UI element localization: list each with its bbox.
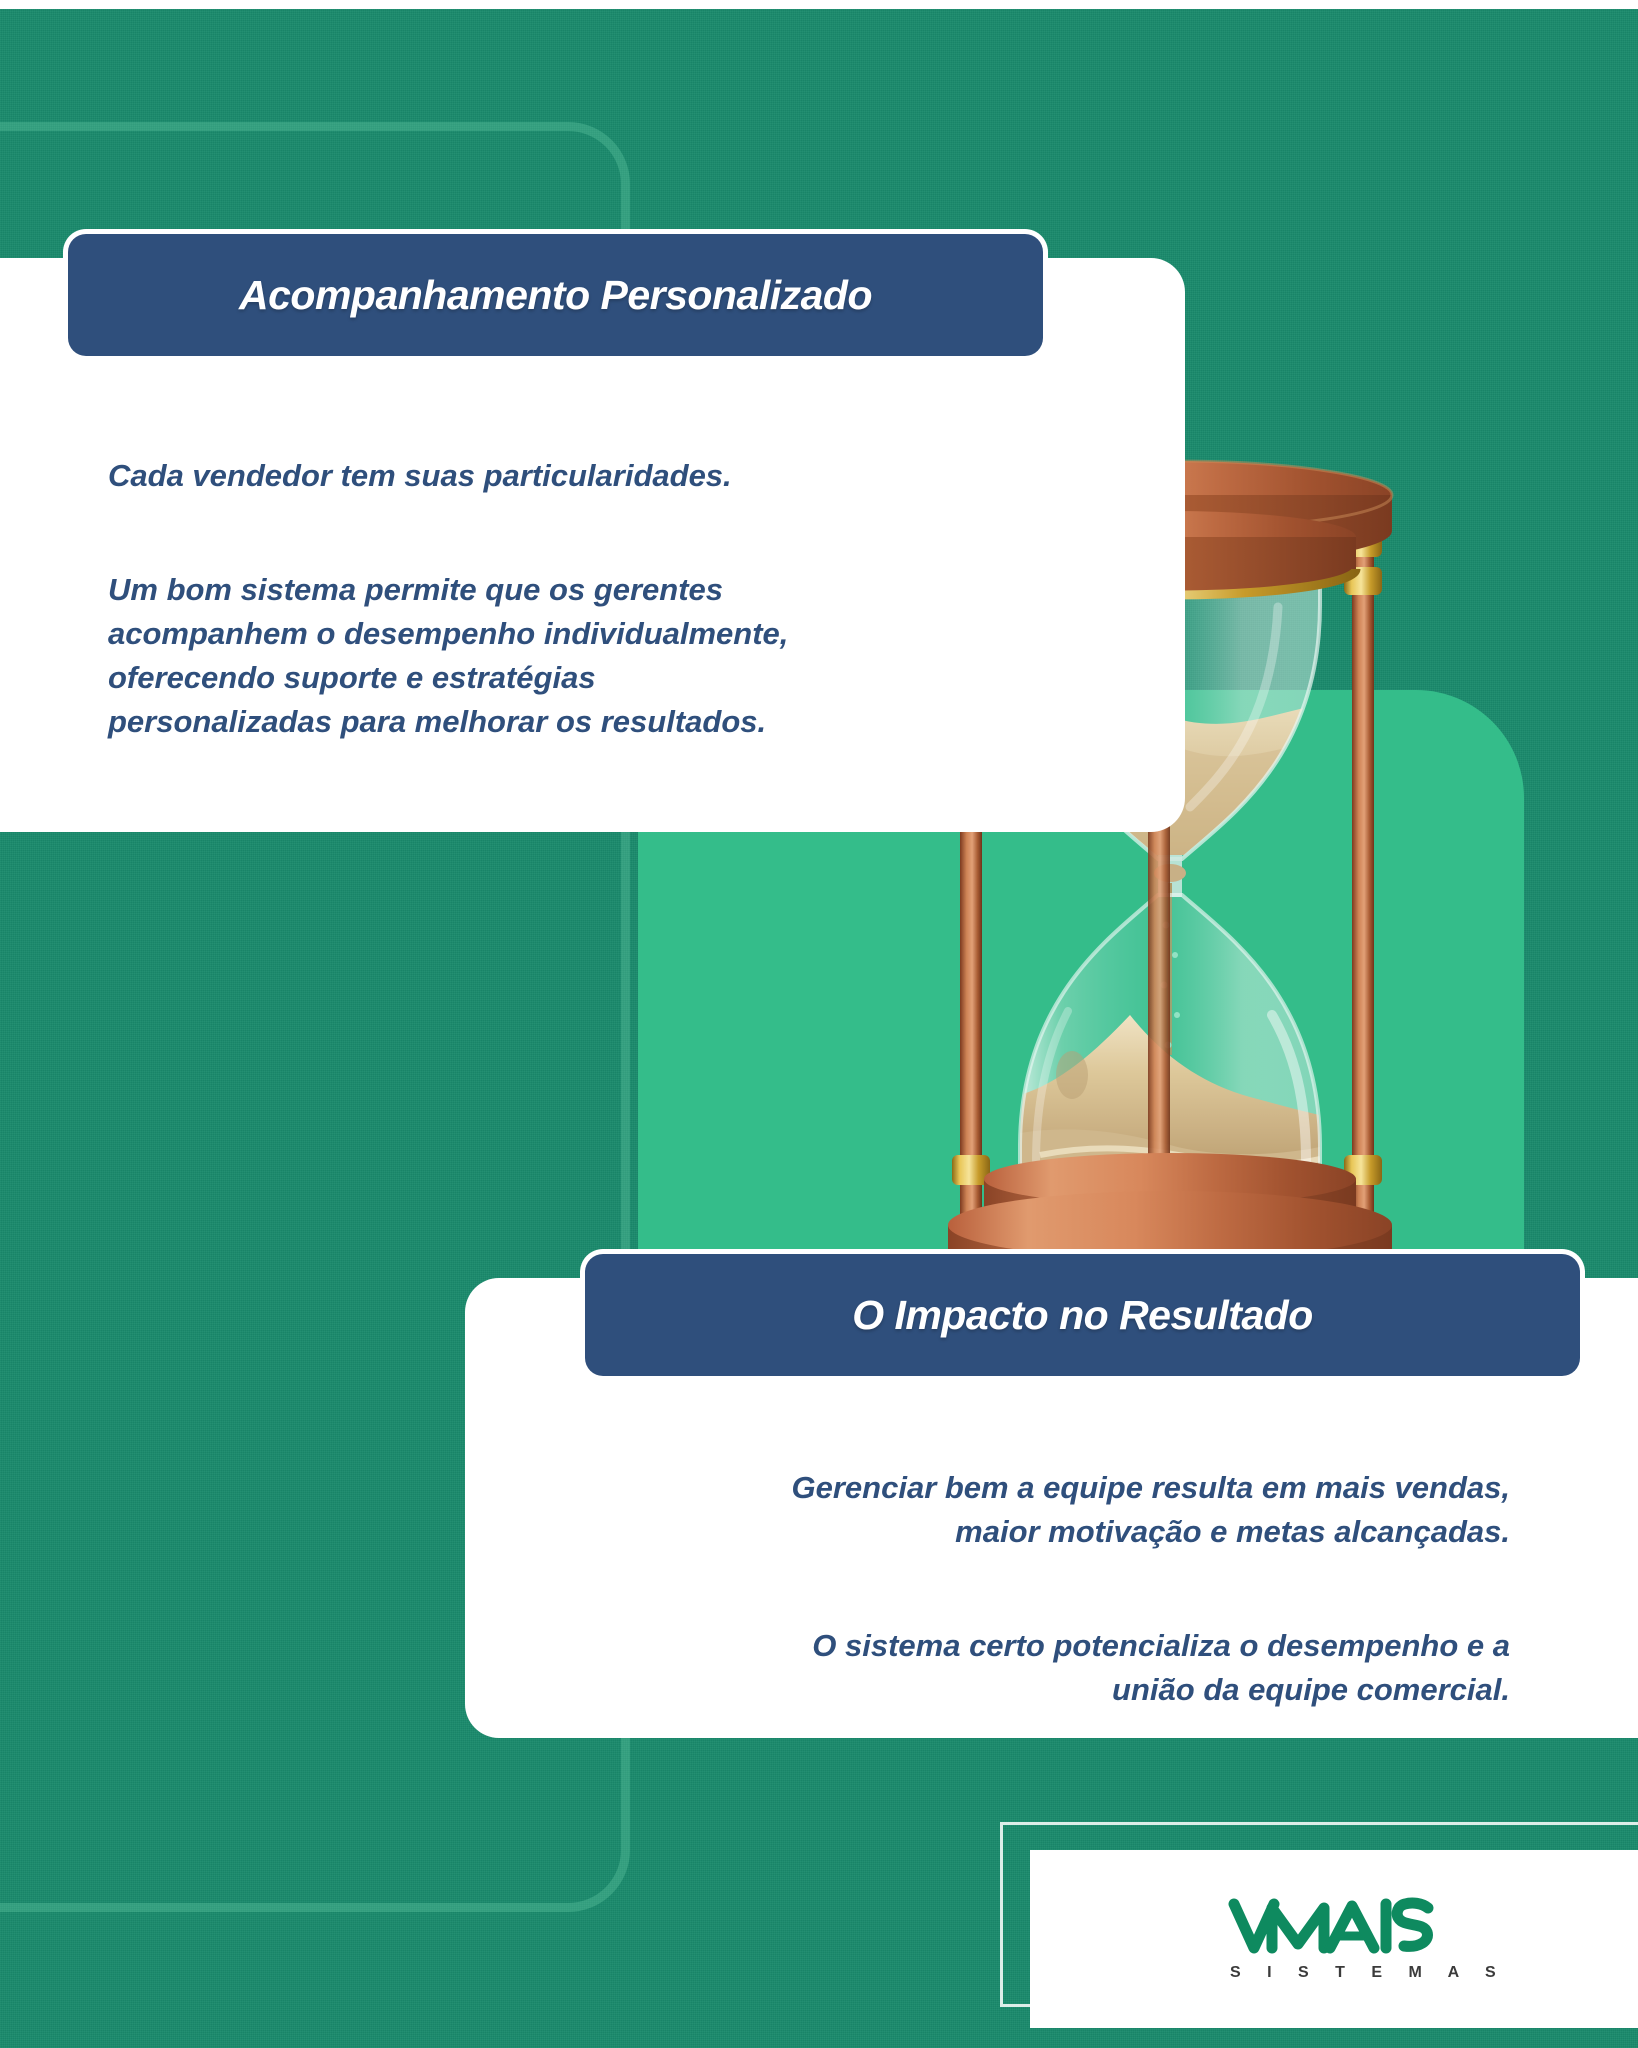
vmais-logo-icon bbox=[1226, 1896, 1436, 1958]
section-two-title-banner: O Impacto no Resultado bbox=[585, 1254, 1580, 1376]
logo-tagline: S I S T E M A S bbox=[1230, 1964, 1507, 1982]
section-two-paragraph-1: Gerenciar bem a equipe resulta em mais v… bbox=[792, 1470, 1511, 1549]
section-one-title: Acompanhamento Personalizado bbox=[239, 272, 872, 319]
section-one-paragraph-2: Um bom sistema permite que os gerentes a… bbox=[108, 572, 788, 739]
poster-canvas: Cada vendedor tem suas particularidades.… bbox=[0, 0, 1638, 2048]
paragraph-spacer bbox=[108, 498, 898, 524]
section-one-body: Cada vendedor tem suas particularidades.… bbox=[108, 410, 898, 744]
logo-box: S I S T E M A S bbox=[1030, 1850, 1638, 2028]
section-one-title-banner: Acompanhamento Personalizado bbox=[68, 234, 1043, 356]
section-two-body: Gerenciar bem a equipe resulta em mais v… bbox=[640, 1422, 1510, 1712]
section-two-paragraph-2: O sistema certo potencializa o desempenh… bbox=[812, 1628, 1510, 1707]
top-white-strip bbox=[0, 0, 1638, 9]
section-one-paragraph-1: Cada vendedor tem suas particularidades. bbox=[108, 458, 732, 493]
section-two-title: O Impacto no Resultado bbox=[852, 1292, 1313, 1339]
paragraph-spacer bbox=[640, 1554, 1510, 1580]
